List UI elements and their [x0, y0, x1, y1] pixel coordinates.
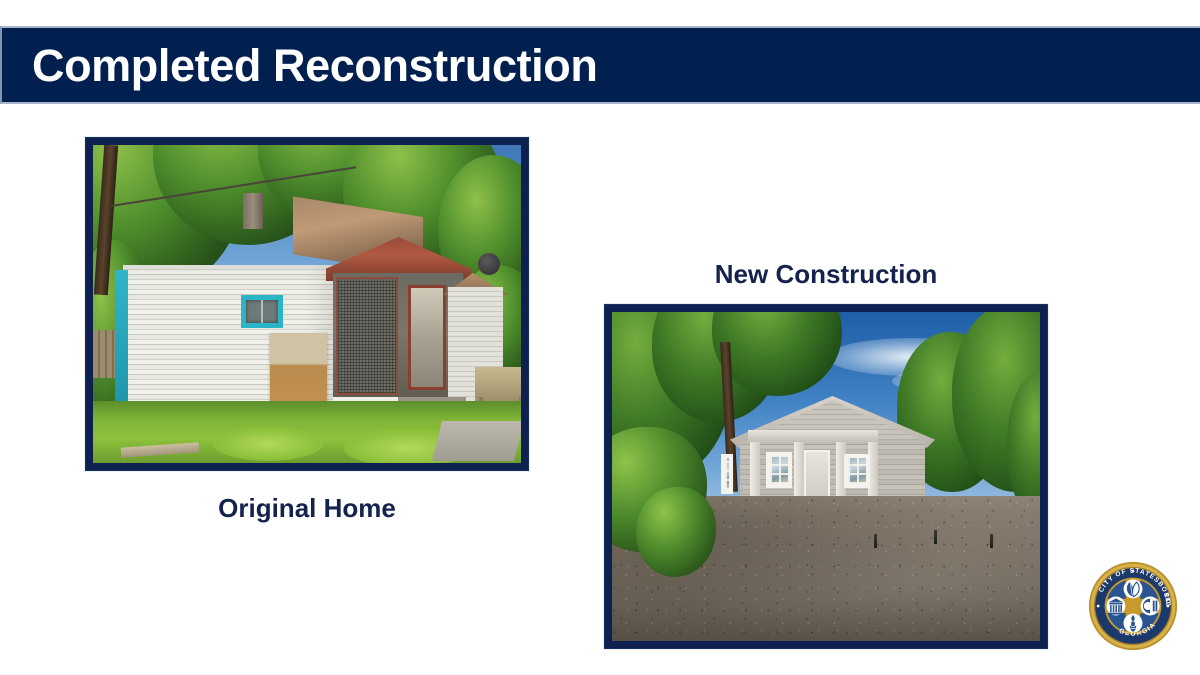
slide-canvas: Completed Reconstruction: [0, 0, 1200, 675]
new-construction-image: [612, 312, 1040, 641]
satellite-dish: [478, 253, 500, 275]
original-home-photo[interactable]: [85, 137, 529, 471]
torch-emblem: [1124, 614, 1143, 633]
window: [844, 454, 870, 488]
window: [766, 452, 792, 488]
plywood-board-patch: [270, 333, 327, 401]
original-home-image: [93, 145, 521, 463]
city-of-statesboro-seal: CITY OF STATESBORO 1803 GEORGIA: [1088, 561, 1178, 651]
porch-roof: [748, 430, 878, 444]
slide-title-bar: Completed Reconstruction: [0, 26, 1200, 104]
seal-icon: CITY OF STATESBORO 1803 GEORGIA: [1088, 561, 1178, 651]
caption-original-home: Original Home: [85, 495, 529, 521]
leaves-emblem: [1124, 579, 1143, 598]
page-title: Completed Reconstruction: [2, 43, 597, 88]
grass-highlight: [213, 427, 323, 461]
yard-table: [475, 367, 521, 403]
teal-framed-window: [241, 295, 283, 328]
porch-screen: [336, 277, 398, 395]
survey-stake: [934, 530, 937, 544]
survey-stake: [874, 534, 877, 548]
caption-new-construction: New Construction: [604, 261, 1048, 287]
side-window: [721, 454, 733, 494]
chimney: [243, 193, 263, 229]
survey-stake: [990, 534, 993, 548]
courthouse-emblem: [1106, 597, 1125, 616]
porch-door: [408, 285, 446, 390]
concrete-walk: [432, 421, 521, 461]
book-and-columns-emblem: [1141, 597, 1160, 616]
teal-trim: [115, 270, 128, 418]
new-construction-photo[interactable]: [604, 304, 1048, 649]
